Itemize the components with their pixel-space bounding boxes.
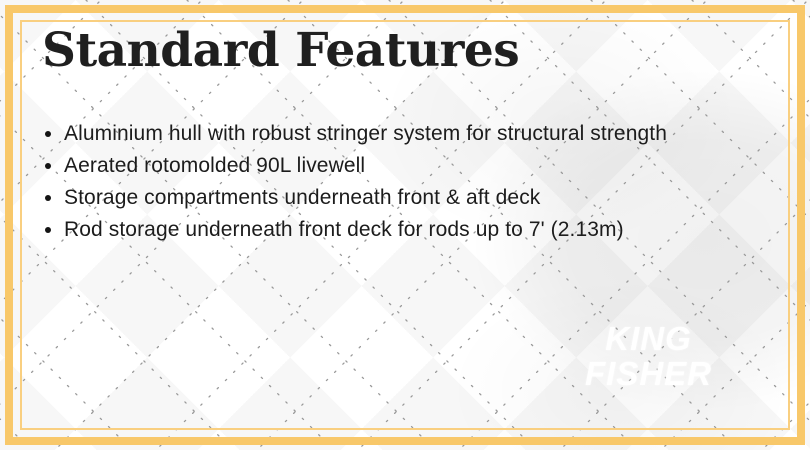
list-item: Aerated rotomolded 90L livewell xyxy=(38,150,738,182)
list-item: Aluminium hull with robust stringer syst… xyxy=(38,118,738,150)
page-title: Standard Features xyxy=(42,22,519,80)
bullet-dot-icon xyxy=(45,195,51,201)
standard-features-slide: Standard Features Aluminium hull with ro… xyxy=(0,0,810,450)
list-item-label: Storage compartments underneath front & … xyxy=(64,186,540,209)
slide-content: Standard Features Aluminium hull with ro… xyxy=(0,0,810,450)
list-item: Rod storage underneath front deck for ro… xyxy=(38,214,738,246)
list-item-label: Aluminium hull with robust stringer syst… xyxy=(64,122,667,145)
watermark-line-fisher: FISHER xyxy=(585,356,712,392)
brand-watermark: KING FISHER xyxy=(585,321,712,392)
watermark-line-king: KING xyxy=(585,321,712,357)
features-list: Aluminium hull with robust stringer syst… xyxy=(38,118,738,246)
list-item-label: Rod storage underneath front deck for ro… xyxy=(64,218,624,241)
list-item: Storage compartments underneath front & … xyxy=(38,182,738,214)
bullet-dot-icon xyxy=(45,163,51,169)
bullet-dot-icon xyxy=(45,227,51,233)
list-item-label: Aerated rotomolded 90L livewell xyxy=(64,154,365,177)
bullet-dot-icon xyxy=(45,131,51,137)
